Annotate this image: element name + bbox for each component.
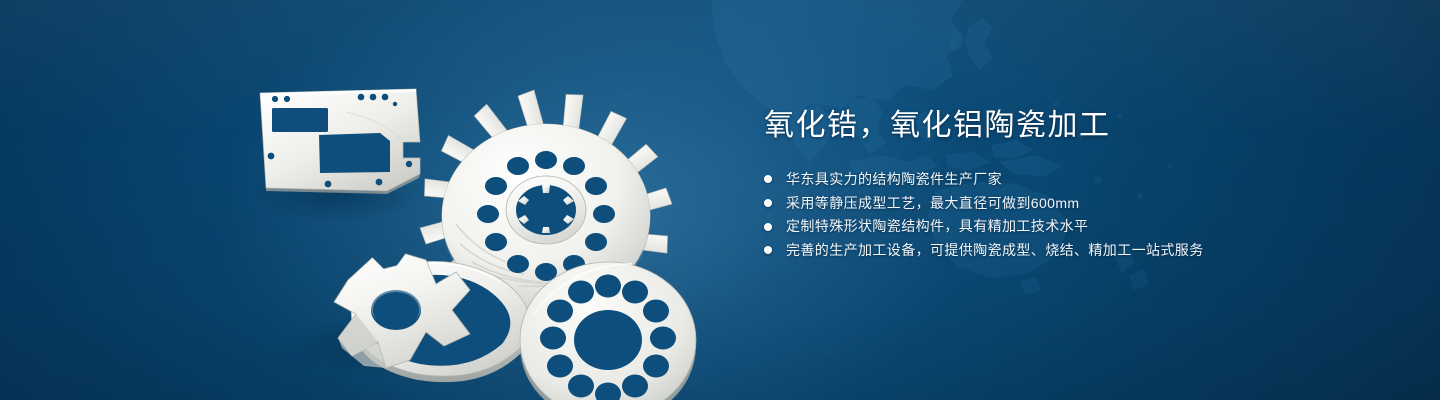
bullet-dot-icon xyxy=(764,175,772,183)
banner-text-block: 氧化锆，氧化铝陶瓷加工 华东具实力的结构陶瓷件生产厂家 采用等静压成型工艺，最大… xyxy=(764,108,1364,258)
feature-text: 华东具实力的结构陶瓷件生产厂家 xyxy=(786,171,1002,187)
list-item: 采用等静压成型工艺，最大直径可做到600mm xyxy=(764,196,1364,211)
list-item: 完善的生产加工设备，可提供陶瓷成型、烧结、精加工一站式服务 xyxy=(764,243,1364,258)
feature-text: 采用等静压成型工艺，最大直径可做到600mm xyxy=(786,195,1079,211)
list-item: 华东具实力的结构陶瓷件生产厂家 xyxy=(764,172,1364,187)
product-photo-collage xyxy=(230,46,720,394)
ceramic-plate-part xyxy=(260,89,420,194)
bullet-dot-icon xyxy=(764,246,772,254)
feature-list: 华东具实力的结构陶瓷件生产厂家 采用等静压成型工艺，最大直径可做到600mm 定… xyxy=(764,172,1364,258)
list-item: 定制特殊形状陶瓷结构件，具有精加工技术水平 xyxy=(764,219,1364,234)
feature-text: 完善的生产加工设备，可提供陶瓷成型、烧结、精加工一站式服务 xyxy=(786,242,1204,258)
bullet-dot-icon xyxy=(764,199,772,207)
feature-text: 定制特殊形状陶瓷结构件，具有精加工技术水平 xyxy=(786,218,1088,234)
bullet-dot-icon xyxy=(764,223,772,231)
hero-banner: 氧化锆，氧化铝陶瓷加工 华东具实力的结构陶瓷件生产厂家 采用等静压成型工艺，最大… xyxy=(0,0,1440,400)
page-title: 氧化锆，氧化铝陶瓷加工 xyxy=(764,108,1364,144)
